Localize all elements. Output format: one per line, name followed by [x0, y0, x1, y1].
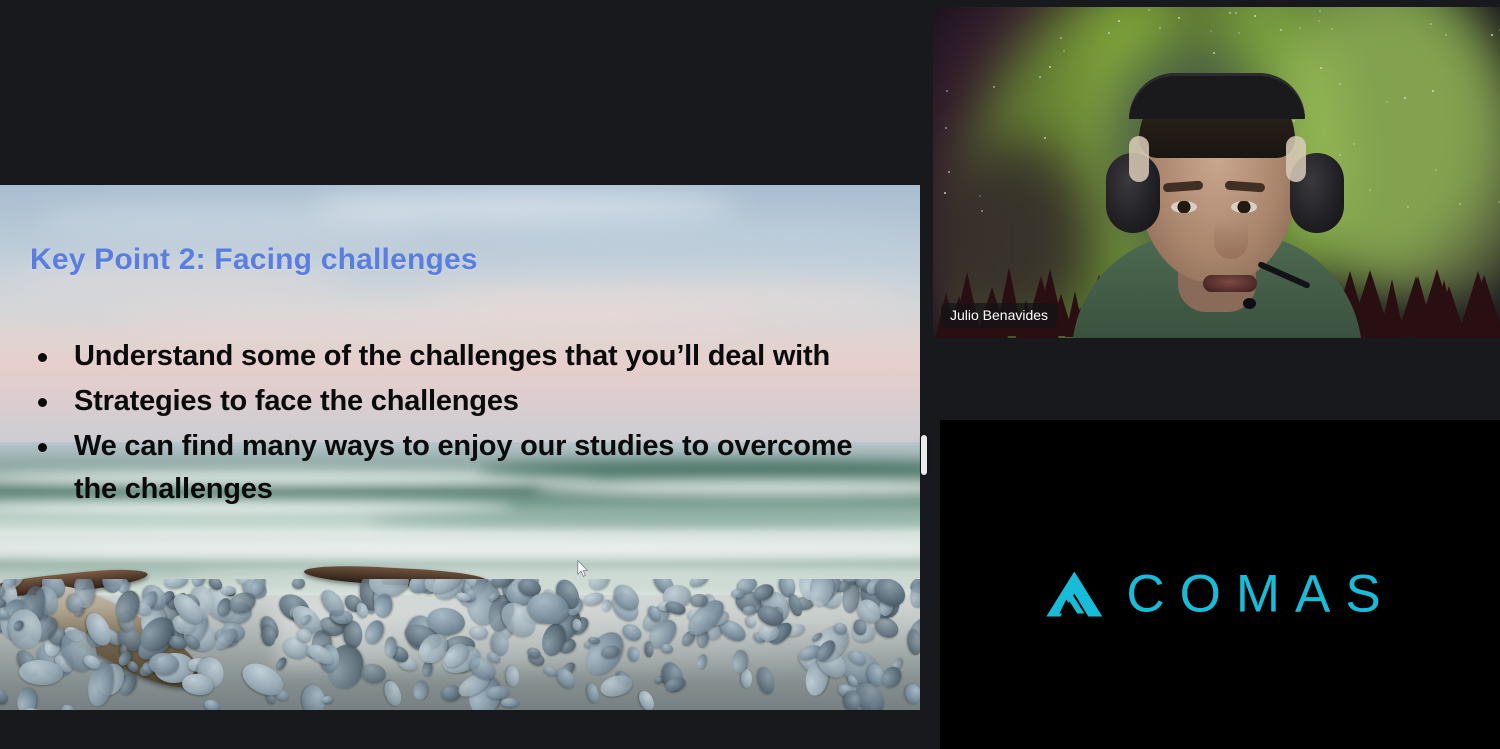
star: [945, 127, 947, 129]
slide-title: Key Point 2: Facing challenges: [30, 243, 478, 277]
pebble: [18, 659, 63, 687]
star: [1339, 83, 1341, 85]
pebble: [59, 703, 77, 710]
pebble: [203, 698, 221, 710]
star: [981, 210, 983, 212]
cloud-shape: [534, 220, 902, 253]
cloud-shape: [110, 305, 754, 330]
pebble: [67, 593, 82, 613]
pebble: [359, 662, 387, 685]
pebble: [554, 665, 580, 692]
pebble: [585, 579, 614, 594]
slide-bullet-item: Understand some of the challenges that y…: [28, 335, 858, 378]
pebble: [469, 624, 489, 640]
slide-bullet-item: We can find many ways to enjoy our studi…: [28, 425, 858, 511]
pebble: [586, 682, 601, 704]
pine-tree: [1457, 271, 1499, 338]
pebble: [906, 629, 920, 656]
pebble: [688, 579, 711, 590]
wave-shape: [368, 512, 920, 529]
pebble: [274, 656, 288, 672]
shared-screen-scrollbar[interactable]: [919, 185, 929, 710]
pebble: [636, 688, 657, 710]
pebble: [221, 586, 236, 595]
pebble: [112, 587, 144, 626]
star: [1299, 27, 1301, 29]
pebble: [163, 579, 189, 590]
pebble: [322, 695, 334, 703]
star: [1280, 29, 1282, 31]
scrollbar-thumb[interactable]: [921, 435, 927, 475]
star: [1159, 27, 1161, 29]
mouth: [1203, 275, 1257, 292]
pebble: [486, 685, 508, 700]
pebble: [381, 679, 403, 708]
presentation-slide[interactable]: Key Point 2: Facing challenges Understan…: [0, 185, 920, 710]
slide-bullet-item: Strategies to face the challenges: [28, 380, 858, 423]
star: [1213, 52, 1215, 54]
boom-microphone-tip: [1243, 298, 1256, 309]
pebble: [506, 665, 521, 687]
star: [1369, 189, 1371, 191]
pebble: [744, 615, 758, 630]
pebble: [572, 618, 582, 630]
star: [1445, 34, 1447, 36]
slide-bullet-list: Understand some of the challenges that y…: [28, 335, 858, 513]
logo-video-tile[interactable]: COMAS: [940, 420, 1500, 749]
star: [1339, 154, 1341, 156]
pebble: [373, 593, 394, 619]
zoom-meeting-screen: Key Point 2: Facing challenges Understan…: [0, 0, 1500, 749]
pebble: [627, 646, 640, 663]
pebble: [660, 643, 674, 655]
headphone-earpad: [1129, 136, 1149, 182]
star: [1491, 34, 1493, 36]
comas-logo: COMAS: [1044, 568, 1395, 621]
pebble: [413, 680, 429, 700]
pebble: [0, 684, 12, 708]
star: [1320, 67, 1322, 69]
pebble: [16, 688, 38, 710]
comas-wordmark: COMAS: [1126, 568, 1395, 621]
star: [1063, 50, 1065, 52]
eye: [1231, 201, 1257, 213]
nose: [1214, 219, 1248, 259]
pebble: [696, 653, 708, 670]
pebble: [644, 641, 653, 657]
pebble: [291, 579, 305, 589]
star: [1044, 137, 1046, 139]
pebble-field: [0, 579, 920, 710]
headphone-headband: [1129, 73, 1305, 119]
comas-mountain-icon: [1044, 569, 1108, 619]
star: [1229, 12, 1231, 14]
participant-name-badge: Julio Benavides: [941, 303, 1057, 328]
star: [1148, 9, 1150, 11]
star: [946, 90, 948, 92]
wave-shape: [0, 539, 920, 560]
participant-video-tile[interactable]: Julio Benavides: [933, 7, 1500, 338]
pebble: [362, 618, 388, 647]
pebble: [743, 606, 757, 615]
star: [1430, 23, 1432, 25]
eye: [1171, 201, 1197, 213]
pebble: [501, 698, 519, 707]
pebble: [903, 682, 920, 705]
pebble: [755, 665, 777, 696]
shared-screen-region[interactable]: Key Point 2: Facing challenges Understan…: [0, 0, 930, 749]
pebble: [877, 663, 905, 692]
star: [1210, 30, 1212, 32]
headphone-earpad: [1286, 136, 1306, 182]
